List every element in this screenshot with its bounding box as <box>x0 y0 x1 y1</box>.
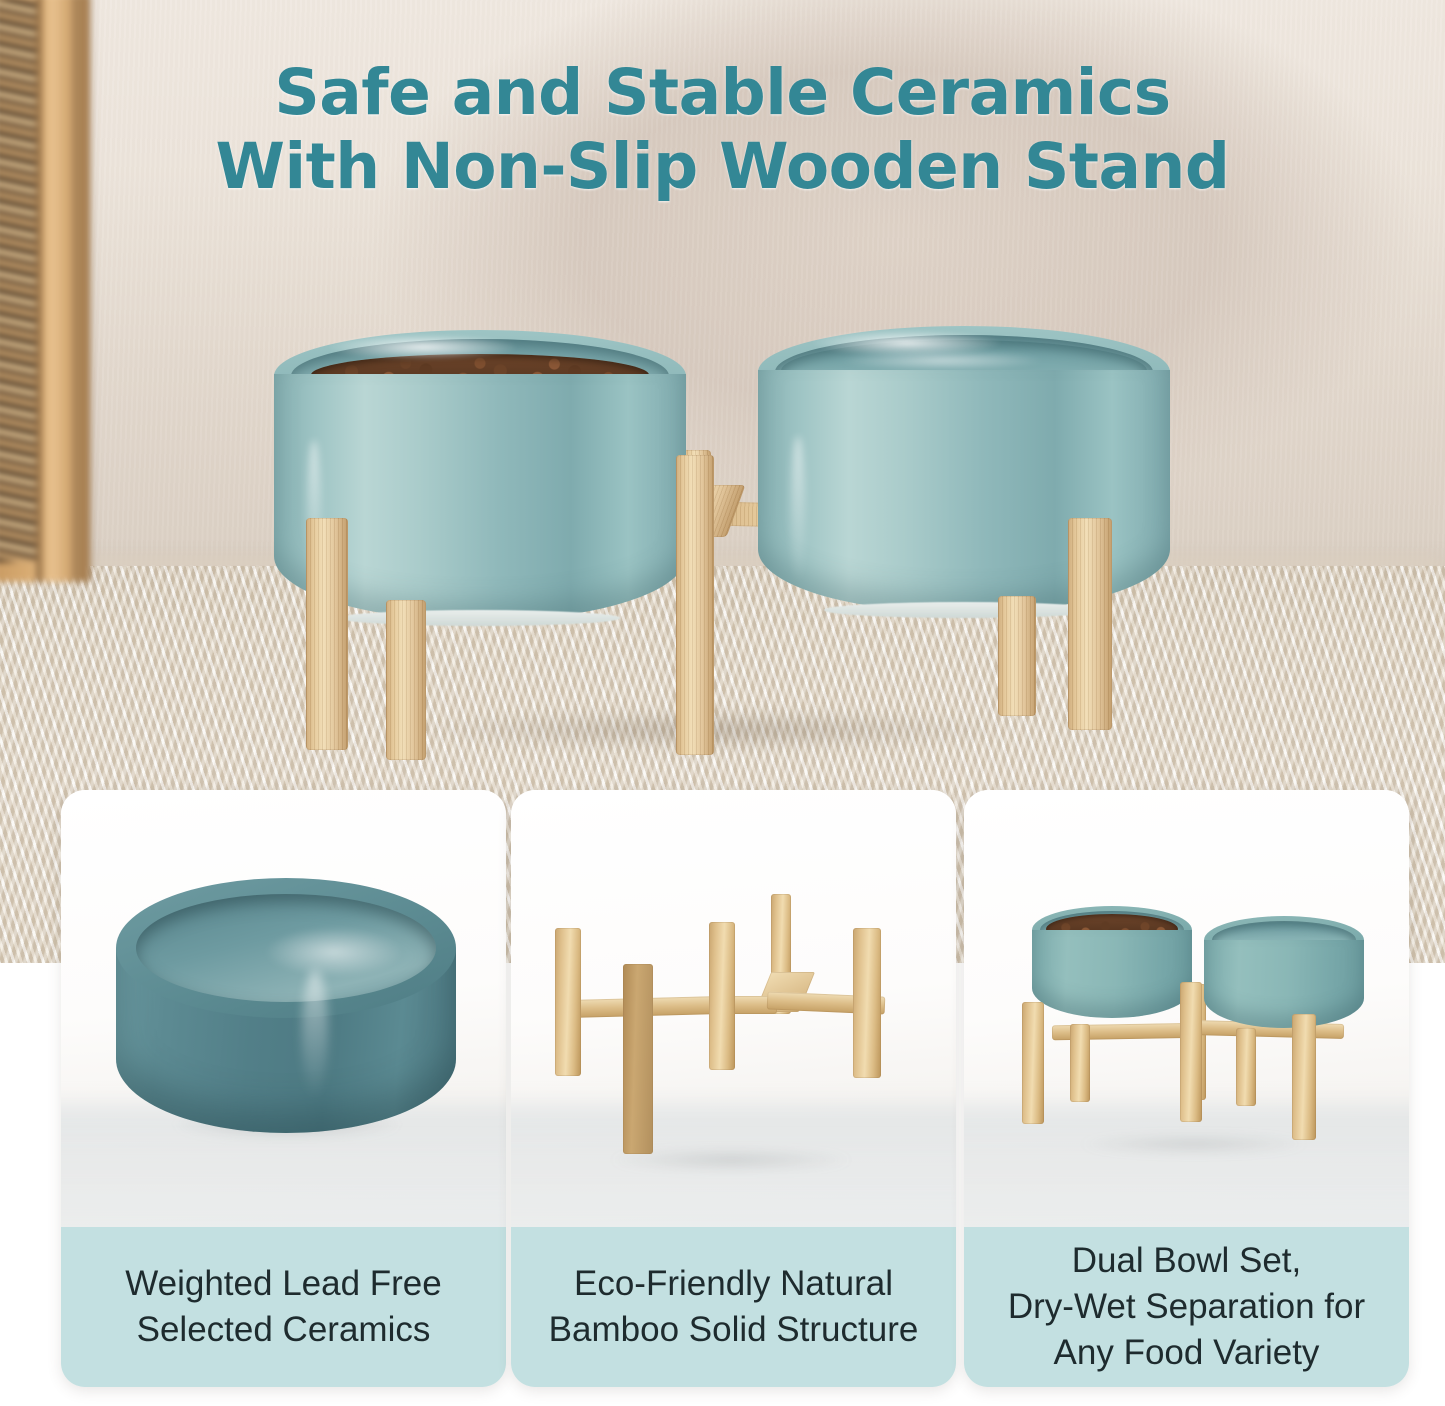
stand-leg-front-right-inner <box>998 596 1036 716</box>
stand-leg-middle <box>709 922 735 1070</box>
stand-leg-front <box>623 964 653 1154</box>
card-caption-ceramics: Weighted Lead Free Selected Ceramics <box>61 1227 506 1387</box>
stand-leg-front-right <box>1068 518 1112 730</box>
feature-card-row: Weighted Lead Free Selected Ceramics Eco… <box>0 790 1445 1390</box>
set-leg-center-front <box>1180 982 1202 1122</box>
stand-leg-far-left <box>555 928 581 1076</box>
headline-line-1: Safe and Stable Ceramics <box>0 56 1445 130</box>
set-leg-back-right <box>1236 1028 1256 1106</box>
stand-leg-center <box>676 455 714 755</box>
card-caption-dual-bowl-set: Dual Bowl Set, Dry-Wet Separation for An… <box>964 1227 1409 1387</box>
bamboo-stand-illustration <box>541 900 931 1140</box>
set-leg-front-right <box>1292 1014 1316 1140</box>
set-leg-front-left <box>1022 1002 1044 1124</box>
single-bowl-illustration <box>116 878 456 1148</box>
card-photo-dual-bowl-set <box>964 790 1409 1227</box>
card-caption-text: Eco-Friendly Natural Bamboo Solid Struct… <box>549 1261 919 1353</box>
set-bowl-water <box>1204 916 1364 1028</box>
stand-leg-front-left-inner <box>386 600 426 760</box>
page-headline: Safe and Stable Ceramics With Non-Slip W… <box>0 56 1445 204</box>
set-bowl-food <box>1032 906 1192 1018</box>
card-caption-text: Dual Bowl Set, Dry-Wet Separation for An… <box>1008 1238 1365 1376</box>
feature-card-ceramics[interactable]: Weighted Lead Free Selected Ceramics <box>61 790 506 1387</box>
stand-leg-far-right <box>853 928 881 1078</box>
stand-leg-front-left <box>306 518 348 750</box>
card-caption-bamboo-stand: Eco-Friendly Natural Bamboo Solid Struct… <box>511 1227 956 1387</box>
set-leg-back-left <box>1070 1024 1090 1102</box>
card-photo-ceramics <box>61 790 506 1227</box>
card-photo-bamboo-stand <box>511 790 956 1227</box>
dual-bowl-set-illustration <box>1008 906 1380 1136</box>
feature-card-bamboo-stand[interactable]: Eco-Friendly Natural Bamboo Solid Struct… <box>511 790 956 1387</box>
card-caption-text: Weighted Lead Free Selected Ceramics <box>125 1261 442 1353</box>
feature-card-dual-bowl-set[interactable]: Dual Bowl Set, Dry-Wet Separation for An… <box>964 790 1409 1387</box>
headline-line-2: With Non-Slip Wooden Stand <box>0 130 1445 204</box>
hero-product-set <box>268 300 1168 770</box>
